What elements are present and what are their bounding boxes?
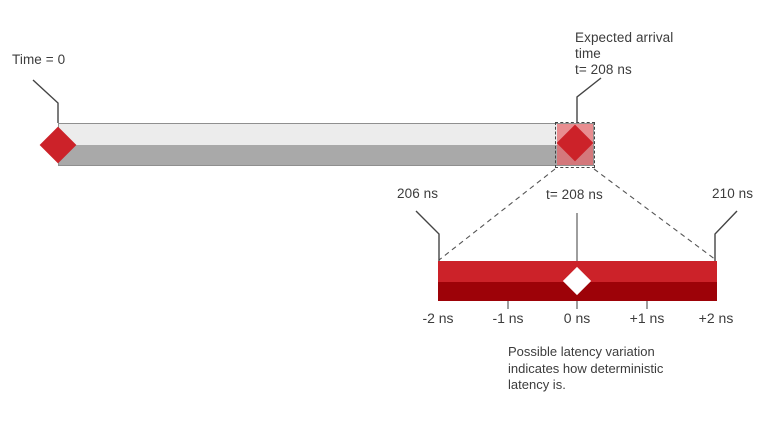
time-zero-label: Time = 0	[12, 52, 65, 68]
caption-text: Possible latency variation indicates how…	[508, 344, 738, 394]
macro-timeline-bar	[58, 123, 594, 166]
center-time-label: t= 208 ns	[546, 187, 603, 203]
macro-bar-lower-band	[59, 145, 593, 166]
axis-label-plus2: +2 ns	[699, 310, 734, 326]
expected-arrival-leader-line	[577, 78, 601, 122]
axis-label-minus2: -2 ns	[422, 310, 453, 326]
lower-bound-label: 206 ns	[397, 186, 438, 202]
diagram-canvas: Time = 0 Expected arrival time t= 208 ns…	[0, 0, 761, 425]
lower-bound-leader-line	[416, 211, 439, 261]
macro-bar-upper-band	[59, 124, 593, 145]
time-zero-leader-line	[33, 80, 58, 123]
upper-bound-leader-line	[715, 211, 737, 261]
expected-arrival-label: Expected arrival time t= 208 ns	[575, 30, 673, 78]
axis-label-minus1: -1 ns	[492, 310, 523, 326]
axis-label-zero: 0 ns	[564, 310, 590, 326]
zoom-expansion-line-left	[439, 169, 555, 260]
zoom-expansion-line-right	[594, 169, 716, 260]
upper-bound-label: 210 ns	[712, 186, 753, 202]
axis-label-plus1: +1 ns	[630, 310, 665, 326]
